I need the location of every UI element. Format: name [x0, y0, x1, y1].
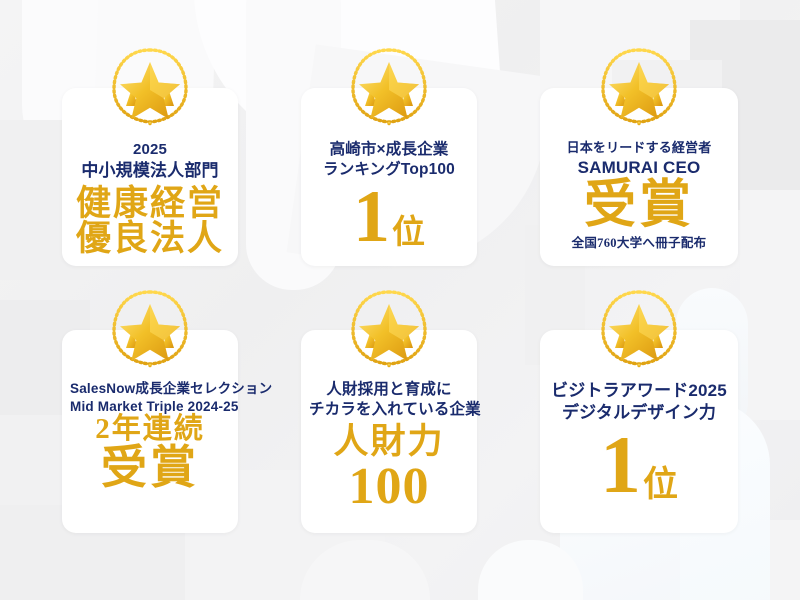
- award-card-jinzairyoku-100[interactable]: 人財採用と育成に チカラを入れている企業 人財力 100: [301, 330, 477, 533]
- headline-line: 高崎市×成長企業: [309, 140, 469, 160]
- card-headline: SalesNow成長企業セレクション Mid Market Triple 202…: [70, 380, 230, 415]
- gold-laurel-star-emblem-icon: [594, 44, 684, 130]
- gold-laurel-star-emblem-icon: [594, 286, 684, 372]
- award-line: 優良法人: [70, 221, 230, 257]
- award-card-bizitora-award-2025[interactable]: ビジトラアワード2025 デジタルデザイン力 1 位: [540, 330, 738, 533]
- gold-laurel-star-emblem-icon: [344, 44, 434, 130]
- card-award-text: 受賞: [548, 179, 730, 232]
- rank-number: 1: [600, 424, 641, 506]
- gold-laurel-star-emblem-icon: [344, 286, 434, 372]
- gold-laurel-star-emblem-icon: [105, 44, 195, 130]
- headline-line: チカラを入れている企業: [309, 400, 469, 420]
- rank-unit: 位: [643, 467, 678, 502]
- card-note: 全国760大学へ冊子配布: [548, 232, 730, 251]
- award-card-samurai-ceo[interactable]: 日本をリードする経営者 SAMURAI CEO 受賞 全国760大学へ冊子配布: [540, 88, 738, 266]
- card-award-number: 100: [309, 460, 469, 513]
- headline-line: 中小規模法人部門: [70, 160, 230, 182]
- rank-number: 1: [353, 180, 390, 254]
- card-award-text: 受賞: [70, 445, 230, 492]
- headline-line: SalesNow成長企業セレクション: [70, 380, 230, 398]
- card-headline: 日本をリードする経営者 SAMURAI CEO: [548, 140, 730, 179]
- headline-line: 2025: [70, 140, 230, 160]
- rank-unit: 位: [392, 217, 425, 250]
- card-award-text: 健康経営 優良法人: [70, 186, 230, 257]
- card-headline: ビジトラアワード2025 デジタルデザイン力: [548, 380, 730, 424]
- gold-laurel-star-emblem-icon: [105, 286, 195, 372]
- award-card-grid: 2025 中小規模法人部門 健康経営 優良法人: [0, 0, 800, 600]
- award-line: 健康経営: [70, 186, 230, 222]
- award-card-salesnow-mid-market-triple[interactable]: SalesNow成長企業セレクション Mid Market Triple 202…: [62, 330, 238, 533]
- award-line: 受賞: [70, 445, 230, 492]
- card-headline: 2025 中小規模法人部門: [70, 140, 230, 182]
- card-award-subtext: 人財力: [309, 424, 469, 460]
- card-rank: 1 位: [548, 424, 730, 506]
- headline-line: 日本をリードする経営者: [548, 140, 730, 157]
- award-line: 受賞: [548, 179, 730, 232]
- card-headline: 人財採用と育成に チカラを入れている企業: [309, 380, 469, 420]
- award-card-takasaki-top100[interactable]: 高崎市×成長企業 ランキングTop100 1 位: [301, 88, 477, 266]
- headline-line: ビジトラアワード2025: [548, 380, 730, 402]
- card-award-subtext: 2年連続: [70, 415, 230, 445]
- headline-line: 人財採用と育成に: [309, 380, 469, 400]
- card-headline: 高崎市×成長企業 ランキングTop100: [309, 140, 469, 180]
- award-card-kenko-keiei[interactable]: 2025 中小規模法人部門 健康経営 優良法人: [62, 88, 238, 266]
- card-rank: 1 位: [309, 180, 469, 254]
- headline-line: SAMURAI CEO: [548, 157, 730, 179]
